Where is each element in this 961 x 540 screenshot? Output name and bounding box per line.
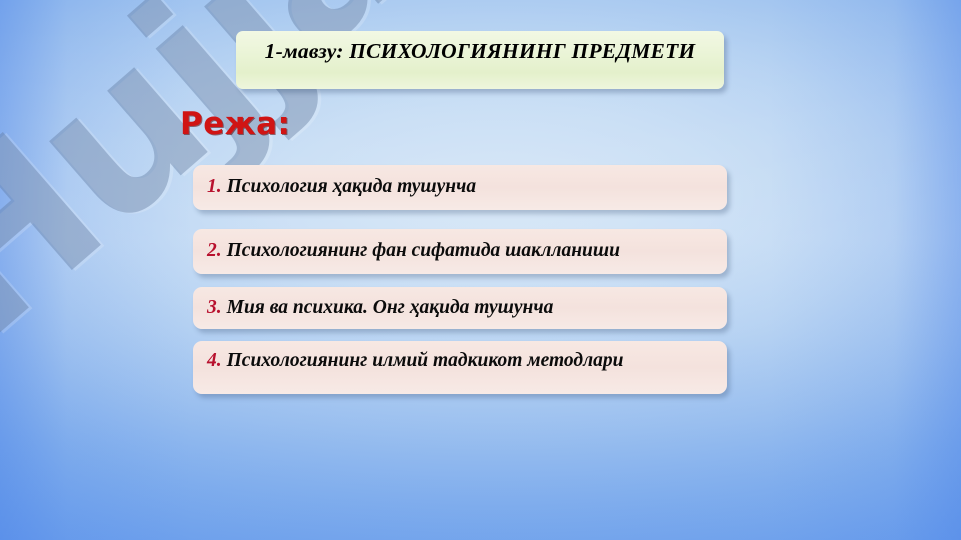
list-item-content: 1.Психология ҳақида тушунча (207, 174, 476, 200)
list-item-label: Мия ва психика. Онг ҳақида тушунча (227, 297, 554, 318)
list-item-label: Психологиянинг илмий тадкикот методлари (227, 350, 624, 371)
list-item-number: 1. (207, 176, 222, 197)
list-item-number: 2. (207, 240, 222, 261)
list-item-label: Психологиянинг фан сифатида шаклланиши (227, 240, 620, 261)
list-item-content: 4.Психологиянинг илмий тадкикот методлар… (207, 348, 623, 374)
list-item: 2.Психологиянинг фан сифатида шаклланиши (193, 229, 727, 274)
list-item-number: 4. (207, 350, 222, 371)
page-title: 1-мавзу: ПСИХОЛОГИЯНИНГ ПРЕДМЕТИ (246, 38, 714, 66)
slide-canvas: Hujjat24 1-мавзу: ПСИХОЛОГИЯНИНГ ПРЕДМЕТ… (0, 0, 961, 540)
list-item-number: 3. (207, 297, 222, 318)
plan-heading: Режа: (180, 109, 290, 140)
list-item: 4.Психологиянинг илмий тадкикот методлар… (193, 341, 727, 394)
list-item-content: 3.Мия ва психика. Онг ҳақида тушунча (207, 295, 553, 321)
list-item-label: Психология ҳақида тушунча (227, 176, 477, 197)
list-item: 3.Мия ва психика. Онг ҳақида тушунча (193, 287, 727, 329)
list-item: 1.Психология ҳақида тушунча (193, 165, 727, 210)
list-item-content: 2.Психологиянинг фан сифатида шаклланиши (207, 238, 620, 264)
title-box: 1-мавзу: ПСИХОЛОГИЯНИНГ ПРЕДМЕТИ (236, 31, 724, 89)
